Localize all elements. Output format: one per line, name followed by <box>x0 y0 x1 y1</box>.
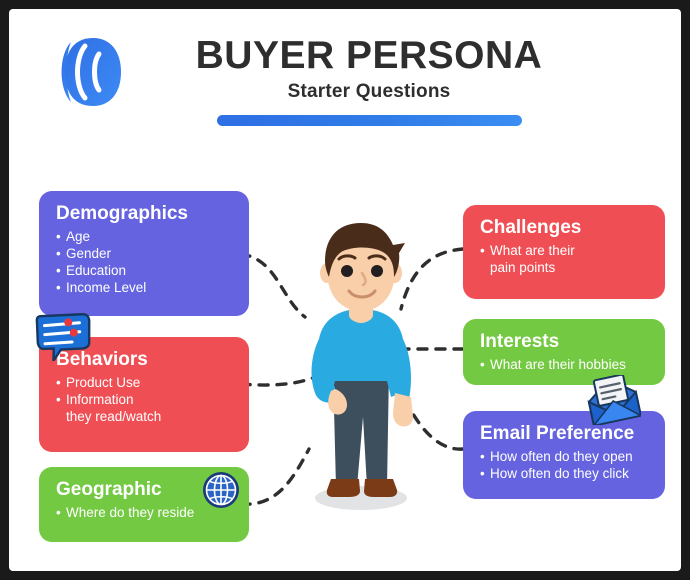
list-item: What are their pain points <box>480 242 651 276</box>
card-items: How often do they open How often do they… <box>480 448 651 482</box>
card-title: Email Preference <box>480 423 651 445</box>
list-item: How often do they click <box>480 465 651 482</box>
list-item: Gender <box>56 245 235 262</box>
list-item: How often do they open <box>480 448 651 465</box>
card-items: What are their pain points <box>480 242 651 276</box>
card-items: Product Use Information they read/watch <box>56 374 235 425</box>
list-item: Information they read/watch <box>56 391 235 425</box>
list-item: Income Level <box>56 279 235 296</box>
card-items: Age Gender Education Income Level <box>56 228 235 297</box>
card-title: Demographics <box>56 203 235 225</box>
infographic-canvas: BUYER PERSONA Starter Questions <box>9 9 681 571</box>
image-frame: BUYER PERSONA Starter Questions <box>0 0 690 580</box>
card-challenges[interactable]: Challenges What are their pain points <box>463 205 665 299</box>
list-item: Age <box>56 228 235 245</box>
list-item: Education <box>56 262 235 279</box>
list-item: What are their hobbies <box>480 356 651 373</box>
chat-bubble-icon <box>35 309 93 361</box>
card-title: Interests <box>480 331 651 353</box>
male-persona-character-illustration <box>287 221 435 516</box>
card-title: Challenges <box>480 217 651 239</box>
globe-icon <box>201 470 241 510</box>
open-envelope-icon <box>585 375 641 425</box>
card-demographics[interactable]: Demographics Age Gender Education Income… <box>39 191 249 316</box>
card-items: What are their hobbies <box>480 356 651 373</box>
list-item: Product Use <box>56 374 235 391</box>
